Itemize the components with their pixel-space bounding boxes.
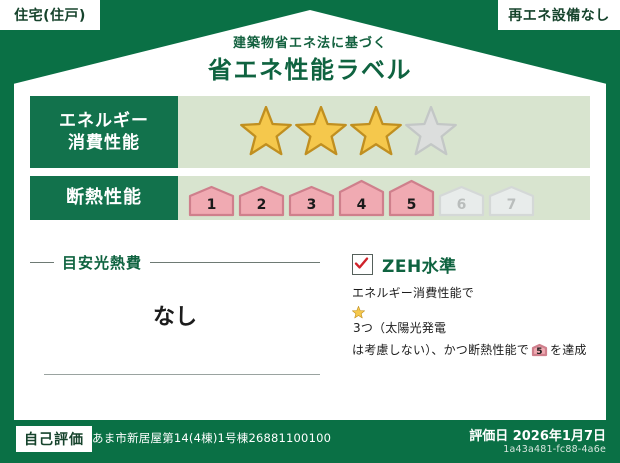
insulation-grade-5: 5 [388, 179, 435, 217]
insulation-grade-6: 6 [438, 179, 485, 217]
star-filled-icon [350, 106, 402, 158]
utility-cost-underline [44, 374, 320, 375]
zeh-desc-star-count: 3つ（太陽光発電 [353, 321, 446, 335]
insulation-performance-row: 断熱性能 1234567 [30, 176, 590, 220]
zeh-checkbox [352, 254, 373, 275]
insulation-grade-7: 7 [488, 179, 535, 217]
label-footer: 自己評価 あま市新居屋第14(4棟)1号棟26881100100 評価日 202… [0, 421, 620, 463]
zeh-title: ZEH水準 [382, 252, 457, 277]
insulation-grade-scale: 1234567 [188, 179, 535, 217]
insulation-label-text: 断熱性能 [66, 186, 142, 209]
insulation-grade-icon: 5 [531, 346, 548, 360]
energy-performance-label: 住宅(住戸) 再エネ設備なし 建築物省エネ法に基づく 省エネ性能ラベル エネルギ… [0, 0, 620, 463]
utility-cost-value: なし [30, 299, 320, 331]
star-filled-icon [295, 106, 347, 158]
energy-label-line1: エネルギー [59, 110, 149, 132]
zeh-desc-part2: は考慮しない）、かつ断熱性能で [352, 343, 529, 357]
building-type-tag: 住宅(住戸) [0, 0, 100, 30]
star-filled-icon [240, 106, 292, 158]
label-title: 建築物省エネ法に基づく 省エネ性能ラベル [0, 36, 620, 85]
utility-cost-section: 目安光熱費 なし [30, 252, 330, 402]
insulation-grade-3: 3 [288, 179, 335, 217]
insulation-grade-2: 2 [238, 179, 285, 217]
star-rating [240, 106, 457, 158]
insulation-performance-value: 1234567 [178, 176, 590, 220]
insulation-grade-1: 1 [188, 179, 235, 217]
zeh-desc-part3: を達成 [550, 343, 587, 357]
utility-cost-heading-text: 目安光熱費 [62, 252, 142, 273]
zeh-desc-part1: エネルギー消費性能で [352, 286, 474, 300]
energy-performance-label: エネルギー 消費性能 [30, 96, 178, 168]
energy-performance-value [178, 96, 590, 168]
lower-section: 目安光熱費 なし ZEH水準 エネルギー消費性能で3つ（太陽光発電 は考慮しない… [30, 252, 590, 402]
zeh-heading: ZEH水準 [352, 252, 590, 277]
building-name: あま市新居屋第14(4棟)1号棟26881100100 [92, 430, 331, 446]
label-subtitle: 建築物省エネ法に基づく [0, 36, 620, 52]
page-title: 省エネ性能ラベル [0, 55, 620, 85]
check-icon [354, 256, 369, 271]
insulation-performance-label: 断熱性能 [30, 176, 178, 220]
renewable-energy-tag: 再エネ設備なし [498, 0, 620, 30]
star-empty-icon [405, 106, 457, 158]
insulation-grade-4: 4 [338, 179, 385, 217]
heading-rule-right [150, 262, 320, 263]
evaluation-type-badge: 自己評価 [16, 426, 92, 452]
energy-performance-row: エネルギー 消費性能 [30, 96, 590, 168]
utility-cost-heading: 目安光熱費 [30, 252, 320, 273]
evaluation-id: 1a43a481-fc88-4a6e [503, 444, 606, 455]
zeh-section: ZEH水準 エネルギー消費性能で3つ（太陽光発電 は考慮しない）、かつ断熱性能で… [330, 252, 590, 402]
zeh-description: エネルギー消費性能で3つ（太陽光発電 は考慮しない）、かつ断熱性能で5を達成 [352, 284, 590, 363]
performance-panel: エネルギー 消費性能 断熱性能 1234567 [30, 96, 590, 228]
heading-rule-left [30, 262, 54, 263]
star-icon [352, 306, 590, 319]
evaluation-date: 評価日 2026年1月7日 [469, 425, 606, 444]
energy-label-line2: 消費性能 [68, 132, 140, 154]
